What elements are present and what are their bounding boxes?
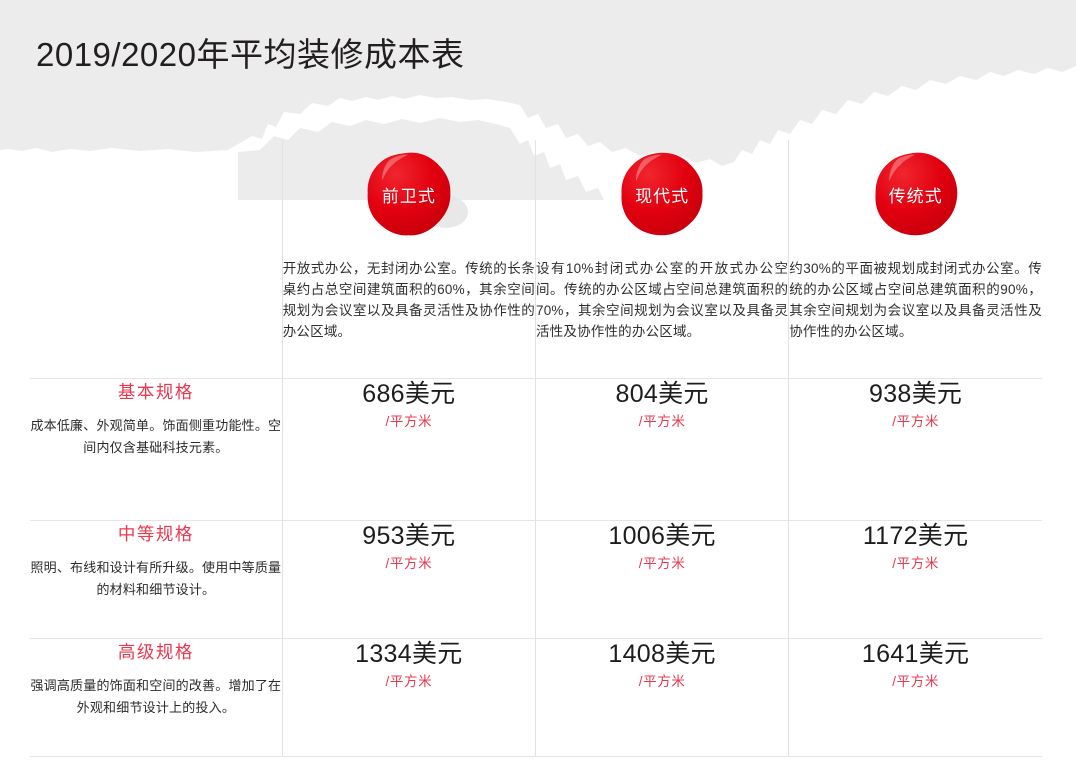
stamp-badge-avant-garde: 前卫式 <box>366 151 452 237</box>
price-cell: 1334美元 /平方米 <box>282 638 535 756</box>
column-description: 开放式办公，无封闭办公室。传统的长条桌约占总空间建筑面积的60%，其余空间规划为… <box>283 258 535 342</box>
spec-description: 强调高质量的饰面和空间的改善。增加了在外观和细节设计上的投入。 <box>30 675 282 719</box>
price-cell: 1408美元 /平方米 <box>535 638 788 756</box>
stamp-label: 前卫式 <box>382 182 436 207</box>
price-unit: /平方米 <box>283 410 535 430</box>
price-amount: 686美元 <box>283 379 535 409</box>
table-row: 中等规格 照明、布线和设计有所升级。使用中等质量的材料和细节设计。 953美元 … <box>30 520 1042 638</box>
table-row: 高级规格 强调高质量的饰面和空间的改善。增加了在外观和细节设计上的投入。 133… <box>30 638 1042 756</box>
spec-cell-high: 高级规格 强调高质量的饰面和空间的改善。增加了在外观和细节设计上的投入。 <box>30 638 282 756</box>
stamp-wrap-avant-garde: 前卫式 <box>283 140 535 244</box>
price-amount: 938美元 <box>789 379 1042 409</box>
price-unit: /平方米 <box>283 552 535 572</box>
price-cell: 938美元 /平方米 <box>789 378 1042 520</box>
column-description: 约30%的平面被规划成封闭式办公室。传统的办公区域占空间总建筑面积的90%，其余… <box>789 258 1042 342</box>
spec-cell-basic: 基本规格 成本低廉、外观简单。饰面侧重功能性。空间内仅含基础科技元素。 <box>30 378 282 520</box>
price-unit: /平方米 <box>536 552 788 572</box>
spec-cell-mid: 中等规格 照明、布线和设计有所升级。使用中等质量的材料和细节设计。 <box>30 520 282 638</box>
price-unit: /平方米 <box>789 410 1042 430</box>
price-amount: 804美元 <box>536 379 788 409</box>
spec-description: 成本低廉、外观简单。饰面侧重功能性。空间内仅含基础科技元素。 <box>30 415 282 459</box>
price-amount: 1006美元 <box>536 521 788 551</box>
price-amount: 1172美元 <box>789 521 1042 551</box>
price-amount: 1408美元 <box>536 639 788 669</box>
header-cell-traditional: 传统式 约30%的平面被规划成封闭式办公室。传统的办公区域占空间总建筑面积的90… <box>789 140 1042 378</box>
stamp-label: 传统式 <box>889 182 943 207</box>
table-header-row: 前卫式 开放式办公，无封闭办公室。传统的长条桌约占总空间建筑面积的60%，其余空… <box>30 140 1042 378</box>
spec-title: 中等规格 <box>30 521 282 546</box>
stamp-wrap-modern: 现代式 <box>536 140 788 244</box>
spec-title: 基本规格 <box>30 379 282 404</box>
price-amount: 1641美元 <box>789 639 1042 669</box>
price-unit: /平方米 <box>789 552 1042 572</box>
price-cell: 1641美元 /平方米 <box>789 638 1042 756</box>
price-unit: /平方米 <box>536 670 788 690</box>
stamp-label: 现代式 <box>635 182 689 207</box>
price-amount: 1334美元 <box>283 639 535 669</box>
price-cell: 1172美元 /平方米 <box>789 520 1042 638</box>
average-fitout-cost-table: 前卫式 开放式办公，无封闭办公室。传统的长条桌约占总空间建筑面积的60%，其余空… <box>30 140 1042 757</box>
price-unit: /平方米 <box>283 670 535 690</box>
header-corner-cell <box>30 140 282 378</box>
page-title: 2019/2020年平均装修成本表 <box>36 28 465 76</box>
stamp-badge-traditional: 传统式 <box>873 151 959 237</box>
table-row: 基本规格 成本低廉、外观简单。饰面侧重功能性。空间内仅含基础科技元素。 686美… <box>30 378 1042 520</box>
stamp-wrap-traditional: 传统式 <box>789 140 1042 244</box>
spec-description: 照明、布线和设计有所升级。使用中等质量的材料和细节设计。 <box>30 557 282 601</box>
header-cell-modern: 现代式 设有10%封闭式办公室的开放式办公空间。传统的办公区域占空间总建筑面积的… <box>535 140 788 378</box>
price-amount: 953美元 <box>283 521 535 551</box>
price-cell: 953美元 /平方米 <box>282 520 535 638</box>
column-description: 设有10%封闭式办公室的开放式办公空间。传统的办公区域占空间总建筑面积的70%，… <box>536 258 788 342</box>
price-cell: 686美元 /平方米 <box>282 378 535 520</box>
stamp-badge-modern: 现代式 <box>619 151 705 237</box>
price-cell: 804美元 /平方米 <box>535 378 788 520</box>
price-unit: /平方米 <box>789 670 1042 690</box>
header-cell-avant-garde: 前卫式 开放式办公，无封闭办公室。传统的长条桌约占总空间建筑面积的60%，其余空… <box>282 140 535 378</box>
price-cell: 1006美元 /平方米 <box>535 520 788 638</box>
price-unit: /平方米 <box>536 410 788 430</box>
spec-title: 高级规格 <box>30 639 282 664</box>
